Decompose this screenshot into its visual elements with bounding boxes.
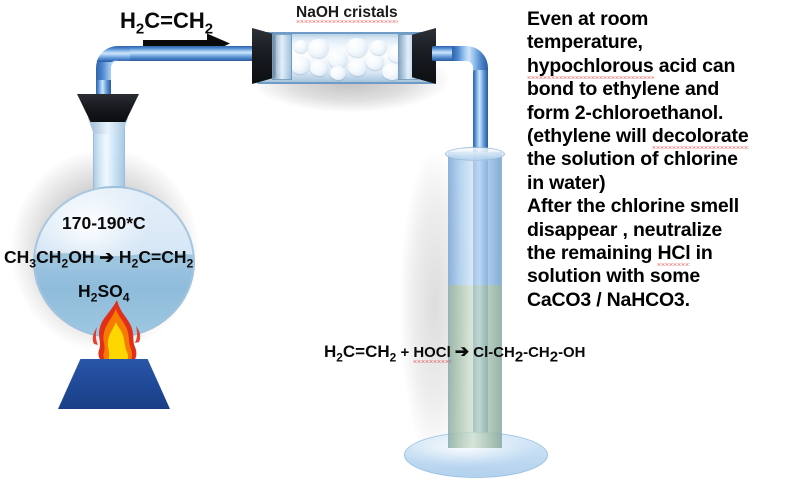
note-misspelled-word: hypochlorous [527,55,654,79]
cat-h: H [78,281,91,301]
gas-washing-cylinder [448,152,502,448]
eq-reactant-ch2: CH [36,247,61,267]
note-text: temperature, [527,31,643,53]
flask-stopper [77,94,139,122]
note-line: the remaining HCl in [527,242,795,265]
note-line: disappear , neutralize [527,219,795,242]
beq-mid: C=CH [343,342,390,361]
flask-catalyst-label: H2SO4 [78,281,130,305]
note-line: CaCO3 / NaHCO3. [527,289,795,312]
eq-arrow-glyph: ➔ [99,247,114,267]
eq-product-h: H [119,247,132,267]
cylinder-upper-region [449,152,501,285]
note-text: disappear , neutralize [527,219,722,241]
gas-label-mid: C=CH [144,8,205,33]
note-text: After the chlorine smell [527,195,739,217]
chlorohydrin-equation: H2C=CH2 + HOCl ➔ Cl-CH2-CH2-OH [324,342,585,365]
cylinder-rim [445,147,505,161]
beq-h: H [324,342,336,361]
note-text: bond to ethylene and [527,78,719,100]
beq-plus: + [400,344,409,361]
note-text: form 2-chloroethanol. [527,102,723,124]
note-text: Even at room [527,8,648,30]
naoh-crystals-label: NaOH cristals [296,4,398,22]
explanation-notes: Even at roomtemperature,hypochlorous aci… [527,8,795,312]
note-line: hypochlorous acid can [527,55,795,78]
note-text: in [690,242,712,264]
flame-icon [86,300,148,366]
naoh-label-text: NaOH cristals [296,4,398,23]
note-text: the remaining [527,242,657,264]
note-text: CaCO3 / NaHCO3. [527,289,690,311]
beq-arrow: ➔ [455,342,469,361]
beq-hocl: HOCl [413,344,450,363]
note-line: form 2-chloroethanol. [527,102,795,125]
cat-so: SO [97,281,122,301]
note-line: After the chlorine smell [527,195,795,218]
chlorine-water-liquid [449,285,501,448]
eq-reactant-oh: OH [68,247,94,267]
bunsen-burner [58,359,170,409]
note-text: in water) [527,172,605,194]
beq-sub1: 2 [336,350,343,364]
flask-temperature-label: 170-190*C [62,213,146,234]
beq-product-sub1: 2 [515,348,523,365]
note-line: Even at room [527,8,795,31]
gas-label-h: H [120,8,136,33]
flask-reaction-equation: CH3CH2OH ➔ H2C=CH2 [4,247,193,271]
note-text: (ethylene will [527,125,652,147]
beq-product-tail: -OH [558,344,585,361]
note-line: (ethylene will decolorate [527,125,795,148]
beq-product-dash: -CH [523,344,550,361]
note-line: temperature, [527,31,795,54]
eq-product-sub2: 2 [187,257,194,271]
beq-product-cl: Cl-CH [473,344,515,361]
note-line: the solution of chlorine [527,148,795,171]
delivery-tube-horizontal-left [130,46,270,61]
diagram-canvas: H2C=CH2 NaOH cristals [0,0,800,503]
note-text: acid can [654,55,736,77]
note-text: the solution of chlorine [527,148,738,170]
cat-sub2: 4 [123,291,130,305]
note-line: bond to ethylene and [527,78,795,101]
drying-tube-cap-left [272,34,292,80]
note-line: solution with some [527,265,795,288]
note-misspelled-word: decolorate [652,125,749,149]
note-line: in water) [527,172,795,195]
note-text: solution with some [527,265,700,287]
eq-reactant-ch: CH [4,247,29,267]
beq-product-sub2: 2 [550,348,558,365]
eq-product-mid: C=CH [138,247,186,267]
note-misspelled-word: HCl [657,242,690,266]
